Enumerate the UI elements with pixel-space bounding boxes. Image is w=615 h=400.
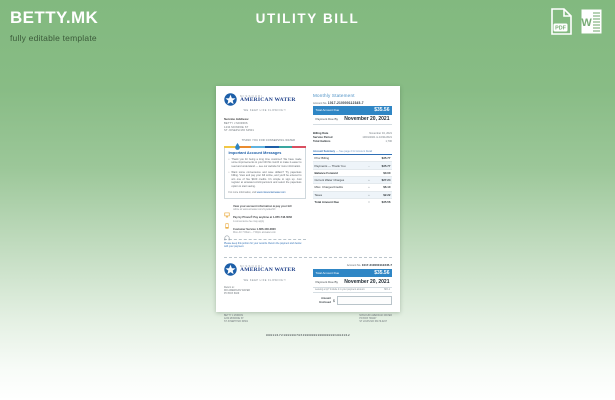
payment-options-list: View your account information & pay your… — [224, 205, 306, 235]
payment-option-phone[interactable]: Pay by Phone® Pay anytime at 1-855-748-6… — [224, 216, 306, 223]
logo-wordmark: MISSOURI AMERICAN WATER — [240, 95, 296, 104]
mail-line: ST JOSEPH MO 64501 — [224, 321, 248, 324]
stub-payment-due-label: Payment Due By — [315, 280, 338, 284]
payment-due-date: November 20, 2021 — [344, 116, 389, 122]
pdf-file-icon[interactable]: PDF — [550, 8, 573, 35]
dollar-sign: $ — [333, 299, 335, 303]
address-line: ST JOSEPH MO 64501 — [224, 129, 306, 133]
billing-meta-block: Billing Date November 04, 2021 Service P… — [313, 132, 392, 143]
payment-stub: MISSOURI AMERICAN WATER WE KEEP LIFE FLO… — [224, 257, 392, 305]
summary-label: Prior Billing — [313, 155, 366, 162]
account-number-label: Account No. — [313, 102, 327, 105]
account-summary-table: Prior Billing $35.77 Payments — Thank Yo… — [313, 155, 392, 205]
message-item: • Want some convenience and save dollars… — [229, 171, 302, 189]
water-drop-icon — [235, 137, 240, 144]
svg-text:PDF: PDF — [555, 26, 566, 32]
summary-label: Balance Forward — [313, 169, 366, 176]
stub-payment-due-date: November 20, 2021 — [344, 279, 389, 285]
payment-due-label: Payment Due By — [315, 117, 338, 121]
bill-right-column: Monthly Statement Account No. 1017-21000… — [313, 93, 392, 248]
conservation-banner: THANK YOU FOR CONSERVING WATER — [224, 137, 306, 144]
summary-amount: $6.10 — [372, 184, 392, 191]
payment-option-online[interactable]: View your account information & pay your… — [224, 205, 306, 212]
return-address-line: PO BOX 6029 — [224, 292, 306, 295]
amount-enclosed-row: Amount Enclosed $ — [313, 296, 392, 305]
table-row: Taxes + $2.22 — [313, 191, 392, 198]
amount-enclosed-label: Amount Enclosed — [313, 297, 331, 303]
stub-due-amount: $35.56 — [374, 270, 389, 276]
logo-tagline: WE KEEP LIFE FLOWING™ — [224, 109, 306, 112]
meta-row: Total Gallons 1,700 — [313, 140, 392, 144]
summary-label: Payments — Thank You — [313, 162, 366, 169]
stub-account-value: 1017-210000112345-7 — [362, 263, 392, 267]
total-amount-due-bar: Total Amount Due $35.56 — [313, 106, 392, 115]
stub-payment-due-row: Payment Due By November 20, 2021 — [313, 277, 392, 288]
service-address-block: BETTY J MORRIS 1234 MONROE ST ST JOSEPH … — [224, 122, 306, 133]
brand-subtitle: fully editable template — [10, 33, 98, 43]
table-row: Payments — Thank You − $35.77 — [313, 162, 392, 169]
computer-icon — [224, 205, 230, 211]
format-icons: PDF W — [550, 8, 603, 35]
remit-line: ST LOUIS MO 63179-0247 — [359, 321, 392, 324]
star-icon — [224, 93, 237, 106]
page-title: UTILITY BILL — [0, 11, 615, 26]
summary-amount: $0.00 — [372, 169, 392, 176]
messages-title: Important Account Messages — [229, 151, 302, 155]
stub-logo-wordmark: MISSOURI AMERICAN WATER — [240, 265, 296, 274]
table-row: Misc. Charges/Credits + $6.10 — [313, 184, 392, 191]
account-summary-heading: Account Summary — See page 2 for Account… — [313, 149, 392, 155]
service-address-heading: Service Address: — [224, 117, 306, 121]
bullet-icon: • — [229, 171, 230, 189]
payment-option-service[interactable]: Customer Service 1-866-430-0820 Mon–Fri … — [224, 228, 306, 235]
stub-total-due-bar: Total Amount Due $35.56 — [313, 269, 392, 278]
page-header: BETTY.MK fully editable template UTILITY… — [0, 0, 615, 58]
payment-option-text: Customer Service 1-866-430-0820 Mon–Fri … — [233, 228, 276, 235]
payment-option-line2: Mon–Fri 7:00am – 7:00pm amwater.com — [233, 231, 276, 234]
stub-logo-tagline: WE KEEP LIFE FLOWING™ — [224, 279, 306, 282]
stub-logo: MISSOURI AMERICAN WATER — [224, 263, 306, 276]
payment-option-line2: A convenience fee may apply — [233, 220, 292, 223]
stub-right: Account No. 1017-210000112345-7 Total Am… — [313, 263, 392, 305]
summary-heading-note: — See page 2 for Account Detail — [336, 150, 372, 153]
svg-text:W: W — [581, 17, 592, 29]
payment-due-row: Payment Due By November 20, 2021 — [313, 115, 392, 126]
headset-icon — [224, 228, 230, 234]
payment-option-line2: online at www.amwater.com/mywaterbill — [233, 208, 292, 211]
stub-note-left: Leaving a tip? Include it in your paymen… — [315, 289, 365, 291]
stub-account-row: Account No. 1017-210000112345-7 — [313, 263, 392, 267]
summary-amount: $2.22 — [372, 191, 392, 198]
account-messages-box: Important Account Messages • Thank you f… — [224, 148, 306, 199]
stub-footer-addresses: BETTY J MORRIS 1234 MONROE ST ST JOSEPH … — [224, 315, 392, 324]
star-icon — [224, 263, 237, 276]
summary-label: Misc. Charges/Credits — [313, 184, 366, 191]
payment-option-text: View your account information & pay your… — [233, 205, 292, 212]
stub-account-label: Account No. — [347, 264, 361, 267]
table-row: Balance Forward $0.00 — [313, 169, 392, 176]
summary-label: Current Water Charges — [313, 177, 366, 184]
utility-bill-document: MISSOURI AMERICAN WATER WE KEEP LIFE FLO… — [216, 86, 400, 312]
stub-note-row: Leaving a tip? Include it in your paymen… — [313, 288, 392, 293]
stub-left: MISSOURI AMERICAN WATER WE KEEP LIFE FLO… — [224, 263, 306, 305]
bullet-icon: • — [229, 158, 230, 169]
customer-mail-block: BETTY J MORRIS 1234 MONROE ST ST JOSEPH … — [224, 315, 248, 324]
account-number-value: 1017-210000112345-7 — [328, 101, 364, 105]
ocr-scanline: 000101721000087863000000000000001084012 — [224, 333, 392, 337]
message-item: • Thank you for being a long time custom… — [229, 158, 302, 169]
summary-amount: $35.77 — [372, 162, 392, 169]
statement-title: Monthly Statement — [313, 93, 392, 98]
remittance-block: MISSOURI AMERICAN WATER PO BOX 790247 ST… — [359, 315, 392, 324]
total-due-label: Total Amount Due — [315, 108, 339, 112]
amount-enclosed-input[interactable] — [337, 296, 392, 305]
summary-amount: $35.77 — [372, 155, 392, 162]
table-row: Prior Billing $35.77 — [313, 155, 392, 162]
messages-footer: For more information, visit www.missouri… — [229, 191, 302, 194]
summary-heading-text: Account Summary — [313, 150, 335, 153]
payment-option-text: Pay by Phone® Pay anytime at 1-855-748-6… — [233, 216, 292, 223]
bill-left-column: MISSOURI AMERICAN WATER WE KEEP LIFE FLO… — [224, 93, 306, 248]
logo-name: AMERICAN WATER — [240, 98, 296, 104]
summary-amount: $27.24 — [372, 177, 392, 184]
summary-label: Taxes — [313, 191, 366, 198]
stub-due-label: Total Amount Due — [315, 271, 339, 275]
table-row-total: Total Amount Due = $35.56 — [313, 198, 392, 205]
message-text: Thank you for being a long time customer… — [231, 158, 301, 169]
summary-label: Total Amount Due — [313, 198, 366, 205]
meta-key: Total Gallons — [313, 140, 331, 144]
bill-top-columns: MISSOURI AMERICAN WATER WE KEEP LIFE FLO… — [224, 93, 392, 248]
stub-return-block: Return to: MO AMERICAN WATER PO BOX 6029 — [224, 286, 306, 295]
detach-note: Please keep this portion for your record… — [224, 239, 306, 248]
conservation-text: THANK YOU FOR CONSERVING WATER — [242, 139, 295, 142]
messages-footer-link[interactable]: www.missouriamwater.com — [257, 191, 286, 194]
logo-name: AMERICAN WATER — [240, 268, 296, 274]
total-due-amount: $35.56 — [374, 107, 389, 113]
summary-amount: $35.56 — [372, 198, 392, 205]
word-file-icon[interactable]: W — [580, 8, 603, 35]
table-row: Current Water Charges + $27.24 — [313, 177, 392, 184]
meta-value: 1,700 — [386, 140, 393, 144]
message-text: Want some convenience and save dollars? … — [231, 171, 301, 189]
company-logo: MISSOURI AMERICAN WATER — [224, 93, 306, 106]
messages-footer-prefix: For more information, visit — [229, 191, 257, 194]
stub-note-right: MO-1 — [384, 289, 390, 291]
phone-icon — [224, 216, 230, 222]
account-number-row: Account No. 1017-210000112345-7 — [313, 101, 392, 105]
